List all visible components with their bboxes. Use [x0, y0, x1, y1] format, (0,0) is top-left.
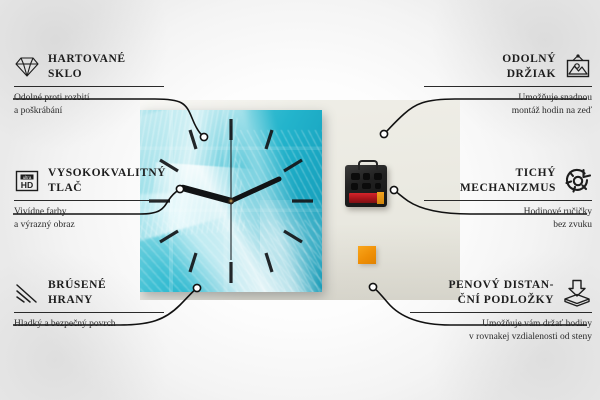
feature-title-line1: ODOLNÝ	[502, 53, 556, 65]
divider	[424, 200, 592, 201]
feature-title-line1: BRÚSENÉ	[48, 279, 106, 291]
feature-title-line2: HRANY	[48, 294, 93, 306]
feature-desc-line1: Odolné proti rozbití	[14, 93, 89, 103]
connector-endpoint	[380, 130, 387, 137]
feature-description: Hladký a bezpečný povrch	[14, 318, 164, 331]
feature-description: Vivídne farby a výrazný obraz	[14, 206, 164, 231]
feature-title: HARTOVANÉ SKLO	[48, 52, 126, 81]
feature-desc-line2: a poškrábání	[14, 106, 62, 116]
feature-desc-line1: Hladký a bezpečný povrch	[14, 319, 116, 329]
connector-endpoint	[390, 186, 397, 193]
feature-description: Hodinové ručičky bez zvuku	[424, 206, 592, 231]
ultra-hd-icon: ultra HD	[14, 169, 40, 193]
divider	[14, 312, 164, 313]
feature-durable-holder: ODOLNÝ DRŽIAK Umožňuje snadnou montáž ho…	[424, 52, 592, 117]
feature-beveled-edges: BRÚSENÉ HRANY Hladký a bezpečný povrch	[14, 278, 164, 331]
feature-title-line2: MECHANIZMUS	[460, 182, 556, 194]
feature-description: Odolné proti rozbití a poškrábání	[14, 92, 164, 117]
feature-desc-line2: a výrazný obraz	[14, 220, 75, 230]
feature-desc-line2: bez zvuku	[553, 220, 592, 230]
divider	[14, 86, 164, 87]
feature-title-line2: TLAČ	[48, 182, 82, 194]
beveled-edges-icon	[14, 281, 40, 305]
diamond-icon	[14, 55, 40, 79]
feature-title: ODOLNÝ DRŽIAK	[502, 52, 556, 81]
feature-tempered-glass: HARTOVANÉ SKLO Odolné proti rozbití a po…	[14, 52, 164, 117]
feature-silent-mechanism: TICHÝ MECHANIZMUS Hodinové ručičky bez z	[424, 166, 592, 231]
feature-title-line1: PENOVÝ DISTAN-	[448, 279, 554, 291]
feature-desc-line2: montáž hodin na zeď	[512, 106, 592, 116]
divider	[14, 200, 164, 201]
feature-description: Umožňuje vám držať hodiny v rovnakej vzd…	[410, 318, 592, 343]
divider	[410, 312, 592, 313]
hd-label: HD	[21, 180, 33, 190]
feature-high-quality-print: ultra HD VYSOKOKVALITNÝ TLAČ Vivídne far…	[14, 166, 164, 231]
feature-desc-line1: Umožňuje snadnou	[518, 93, 592, 103]
feature-desc-line2: v rovnakej vzdialenosti od steny	[469, 332, 592, 342]
feature-title: PENOVÝ DISTAN- ČNÍ PODLOŽKY	[448, 278, 554, 307]
connector-endpoint	[193, 284, 200, 291]
feature-foam-spacers: PENOVÝ DISTAN- ČNÍ PODLOŽKY Umožňuje vám…	[410, 278, 592, 343]
foam-spacer-arrow-icon	[562, 279, 592, 307]
feature-title: TICHÝ MECHANIZMUS	[460, 166, 556, 195]
feature-title-line1: HARTOVANÉ	[48, 53, 126, 65]
connector-endpoint	[176, 185, 183, 192]
feature-description: Umožňuje snadnou montáž hodin na zeď	[424, 92, 592, 117]
divider	[424, 86, 592, 87]
feature-title-line2: DRŽIAK	[507, 68, 556, 80]
feature-title: BRÚSENÉ HRANY	[48, 278, 106, 307]
connector-endpoint	[200, 133, 207, 140]
feature-title-line1: VYSOKOKVALITNÝ	[48, 167, 166, 179]
feature-title-line2: SKLO	[48, 68, 82, 80]
feature-title-line2: ČNÍ PODLOŽKY	[458, 294, 554, 306]
feature-desc-line1: Hodinové ručičky	[524, 207, 592, 217]
connector-endpoint	[369, 283, 376, 290]
gear-icon	[564, 168, 592, 194]
product-infographic: HARTOVANÉ SKLO Odolné proti rozbití a po…	[0, 0, 600, 400]
feature-desc-line1: Vivídne farby	[14, 207, 66, 217]
feature-desc-line1: Umožňuje vám držať hodiny	[482, 319, 592, 329]
feature-title-line1: TICHÝ	[516, 167, 556, 179]
wall-mount-picture-icon	[564, 54, 592, 80]
feature-title: VYSOKOKVALITNÝ TLAČ	[48, 166, 166, 195]
